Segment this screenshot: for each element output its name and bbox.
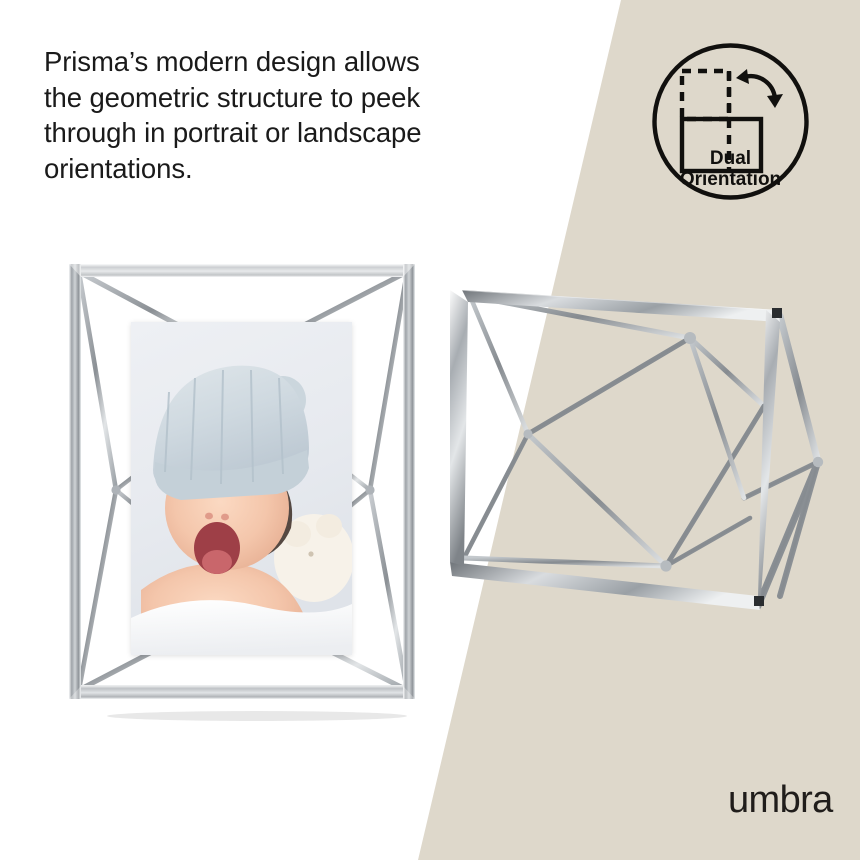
rotation-arrow-head-right-icon: [767, 94, 783, 108]
headline-text: Prisma’s modern design allows the geomet…: [44, 44, 514, 186]
frame-shadow: [107, 711, 407, 721]
umbra-logo: umbra: [728, 781, 833, 819]
dual-orientation-badge: Dual Orientation: [651, 42, 810, 201]
dashed-portrait-rect-icon: [682, 71, 729, 119]
prisma-photo-frame-angled: [428, 266, 834, 636]
baby-yawning-photo: [131, 322, 352, 655]
rotation-arrow-head-left-icon: [736, 69, 749, 84]
frame-wire-structure: [464, 296, 764, 566]
product-marketing-image: Prisma’s modern design allows the geomet…: [0, 0, 860, 860]
frame-depth-struts: [744, 316, 818, 606]
badge-label-line1: Dual: [710, 148, 751, 169]
badge-label-line2: Orientation: [680, 169, 781, 190]
rotation-arrow-icon: [744, 76, 775, 98]
